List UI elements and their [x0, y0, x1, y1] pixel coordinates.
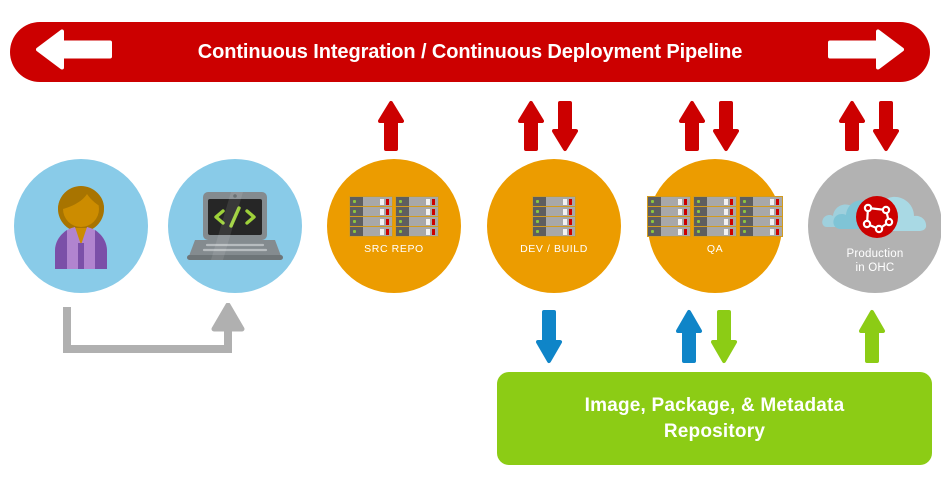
person-icon — [39, 183, 123, 269]
arrow-right-icon — [828, 30, 904, 75]
server-rack-icon — [647, 196, 783, 237]
arrow-down-qa-to-repo — [710, 309, 738, 369]
arrow-left-icon — [36, 30, 112, 75]
diagram-canvas: Continuous Integration / Continuous Depl… — [0, 0, 941, 500]
arrow-down-production — [873, 100, 899, 157]
laptop-code-icon — [187, 190, 283, 262]
arrow-down-dev-build — [552, 100, 578, 157]
pipeline-bar: Continuous Integration / Continuous Depl… — [10, 22, 930, 82]
repository-label-line1: Image, Package, & Metadata — [585, 395, 845, 416]
node-label-production-line1: Production — [847, 248, 904, 260]
arrow-down-dev-build-to-repo — [535, 309, 563, 369]
node-label-production-line2: in OHC — [856, 262, 895, 274]
arrow-up-production — [839, 100, 865, 157]
arrow-up-repo-to-production — [858, 309, 886, 369]
server-rack-icon — [532, 196, 576, 237]
repository-box[interactable]: Image, Package, & Metadata Repository — [497, 372, 932, 465]
connector-developer-to-workstation — [60, 303, 260, 368]
repository-label-line2: Repository — [664, 421, 765, 442]
arrow-up-repo-to-qa — [675, 309, 703, 369]
arrow-down-qa — [713, 100, 739, 157]
arrow-up-src-repo — [378, 100, 404, 157]
node-src-repo[interactable]: SRC REPO — [327, 159, 461, 293]
node-workstation[interactable] — [168, 159, 302, 293]
node-developer[interactable] — [14, 159, 148, 293]
server-rack-icon — [349, 196, 439, 237]
node-qa[interactable]: QA — [648, 159, 782, 293]
node-label-dev-build: DEV / BUILD — [520, 243, 588, 256]
page-title: Continuous Integration / Continuous Depl… — [198, 41, 743, 64]
node-label-src-repo: SRC REPO — [364, 243, 424, 256]
repository-label: Image, Package, & Metadata Repository — [585, 393, 845, 445]
node-dev-build[interactable]: DEV / BUILD — [487, 159, 621, 293]
arrow-up-qa — [679, 100, 705, 157]
arrow-up-dev-build — [518, 100, 544, 157]
cloud-openshift-icon — [821, 177, 929, 241]
node-label-qa: QA — [707, 243, 723, 256]
node-label-production-ohc: Production in OHC — [847, 247, 904, 275]
node-production-ohc[interactable]: Production in OHC — [808, 159, 941, 293]
